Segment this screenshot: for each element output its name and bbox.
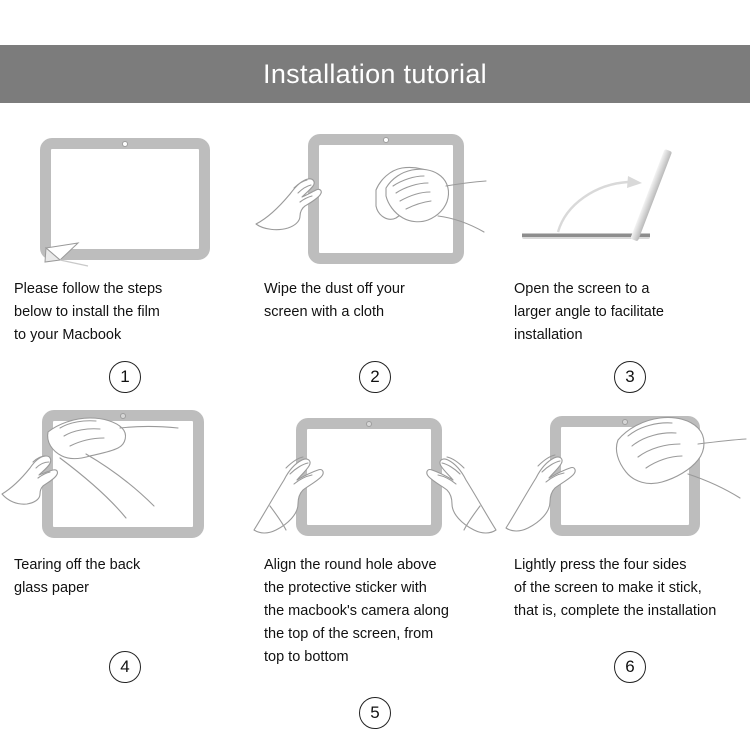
step-4-illustration <box>0 402 250 547</box>
camera-dot-icon <box>122 141 128 147</box>
step-card-4: Tearing off the back glass paper 4 <box>0 402 250 692</box>
caption-line: screen with a cloth <box>264 301 486 324</box>
step-number-badge-5: 5 <box>359 697 391 729</box>
screen-graphic <box>42 410 204 538</box>
caption-line: the top of the screen, from <box>264 623 486 646</box>
step-2-caption: Wipe the dust off your screen with a clo… <box>250 278 486 324</box>
screen-graphic <box>40 138 210 260</box>
camera-dot-icon <box>120 413 126 419</box>
step-5-caption: Align the round hole above the protectiv… <box>250 554 486 669</box>
caption-line: Open the screen to a <box>514 278 746 301</box>
step-card-3: Open the screen to a larger angle to fac… <box>500 126 750 402</box>
steps-grid: Please follow the steps below to install… <box>0 126 750 726</box>
caption-line: the macbook's camera along <box>264 600 486 623</box>
caption-line: Wipe the dust off your <box>264 278 486 301</box>
step-3-caption: Open the screen to a larger angle to fac… <box>500 278 746 347</box>
step-number-badge-3: 3 <box>614 361 646 393</box>
step-number-badge-6: 6 <box>614 651 646 683</box>
camera-dot-icon <box>383 137 389 143</box>
camera-dot-icon <box>366 421 372 427</box>
caption-line: that is, complete the installation <box>514 600 748 623</box>
step-1-caption: Please follow the steps below to install… <box>0 278 236 347</box>
step-card-2: Wipe the dust off your screen with a clo… <box>250 126 500 402</box>
caption-line: to your Macbook <box>14 324 236 347</box>
caption-line: larger angle to facilitate <box>514 301 746 324</box>
step-2-illustration <box>250 126 500 271</box>
caption-line: below to install the film <box>14 301 236 324</box>
step-5-illustration <box>250 402 500 547</box>
step-3-illustration <box>500 126 750 271</box>
step-4-caption: Tearing off the back glass paper <box>0 554 236 600</box>
caption-line: top to bottom <box>264 646 486 669</box>
step-1-illustration <box>0 126 250 271</box>
caption-line: Lightly press the four sides <box>514 554 748 577</box>
laptop-lid <box>630 149 672 241</box>
step-number-badge-2: 2 <box>359 361 391 393</box>
caption-line: the protective sticker with <box>264 577 486 600</box>
page-title: Installation tutorial <box>263 61 487 88</box>
screen-graphic <box>308 134 464 264</box>
tutorial-page: Installation tutorial Please follow the … <box>0 0 750 750</box>
caption-line: glass paper <box>14 577 236 600</box>
header-banner: Installation tutorial <box>0 45 750 103</box>
step-card-6: Lightly press the four sides of the scre… <box>500 402 750 692</box>
caption-line: installation <box>514 324 746 347</box>
step-number-badge-1: 1 <box>109 361 141 393</box>
caption-line: of the screen to make it stick, <box>514 577 748 600</box>
step-6-illustration <box>500 402 750 547</box>
screen-graphic <box>550 416 700 536</box>
step-6-caption: Lightly press the four sides of the scre… <box>500 554 748 623</box>
caption-line: Align the round hole above <box>264 554 486 577</box>
camera-dot-icon <box>622 419 628 425</box>
step-number-badge-4: 4 <box>109 651 141 683</box>
screen-graphic <box>296 418 442 536</box>
caption-line: Please follow the steps <box>14 278 236 301</box>
step-card-1: Please follow the steps below to install… <box>0 126 250 402</box>
step-card-5: Align the round hole above the protectiv… <box>250 402 500 692</box>
caption-line: Tearing off the back <box>14 554 236 577</box>
open-angle-arrow-icon <box>500 126 750 271</box>
